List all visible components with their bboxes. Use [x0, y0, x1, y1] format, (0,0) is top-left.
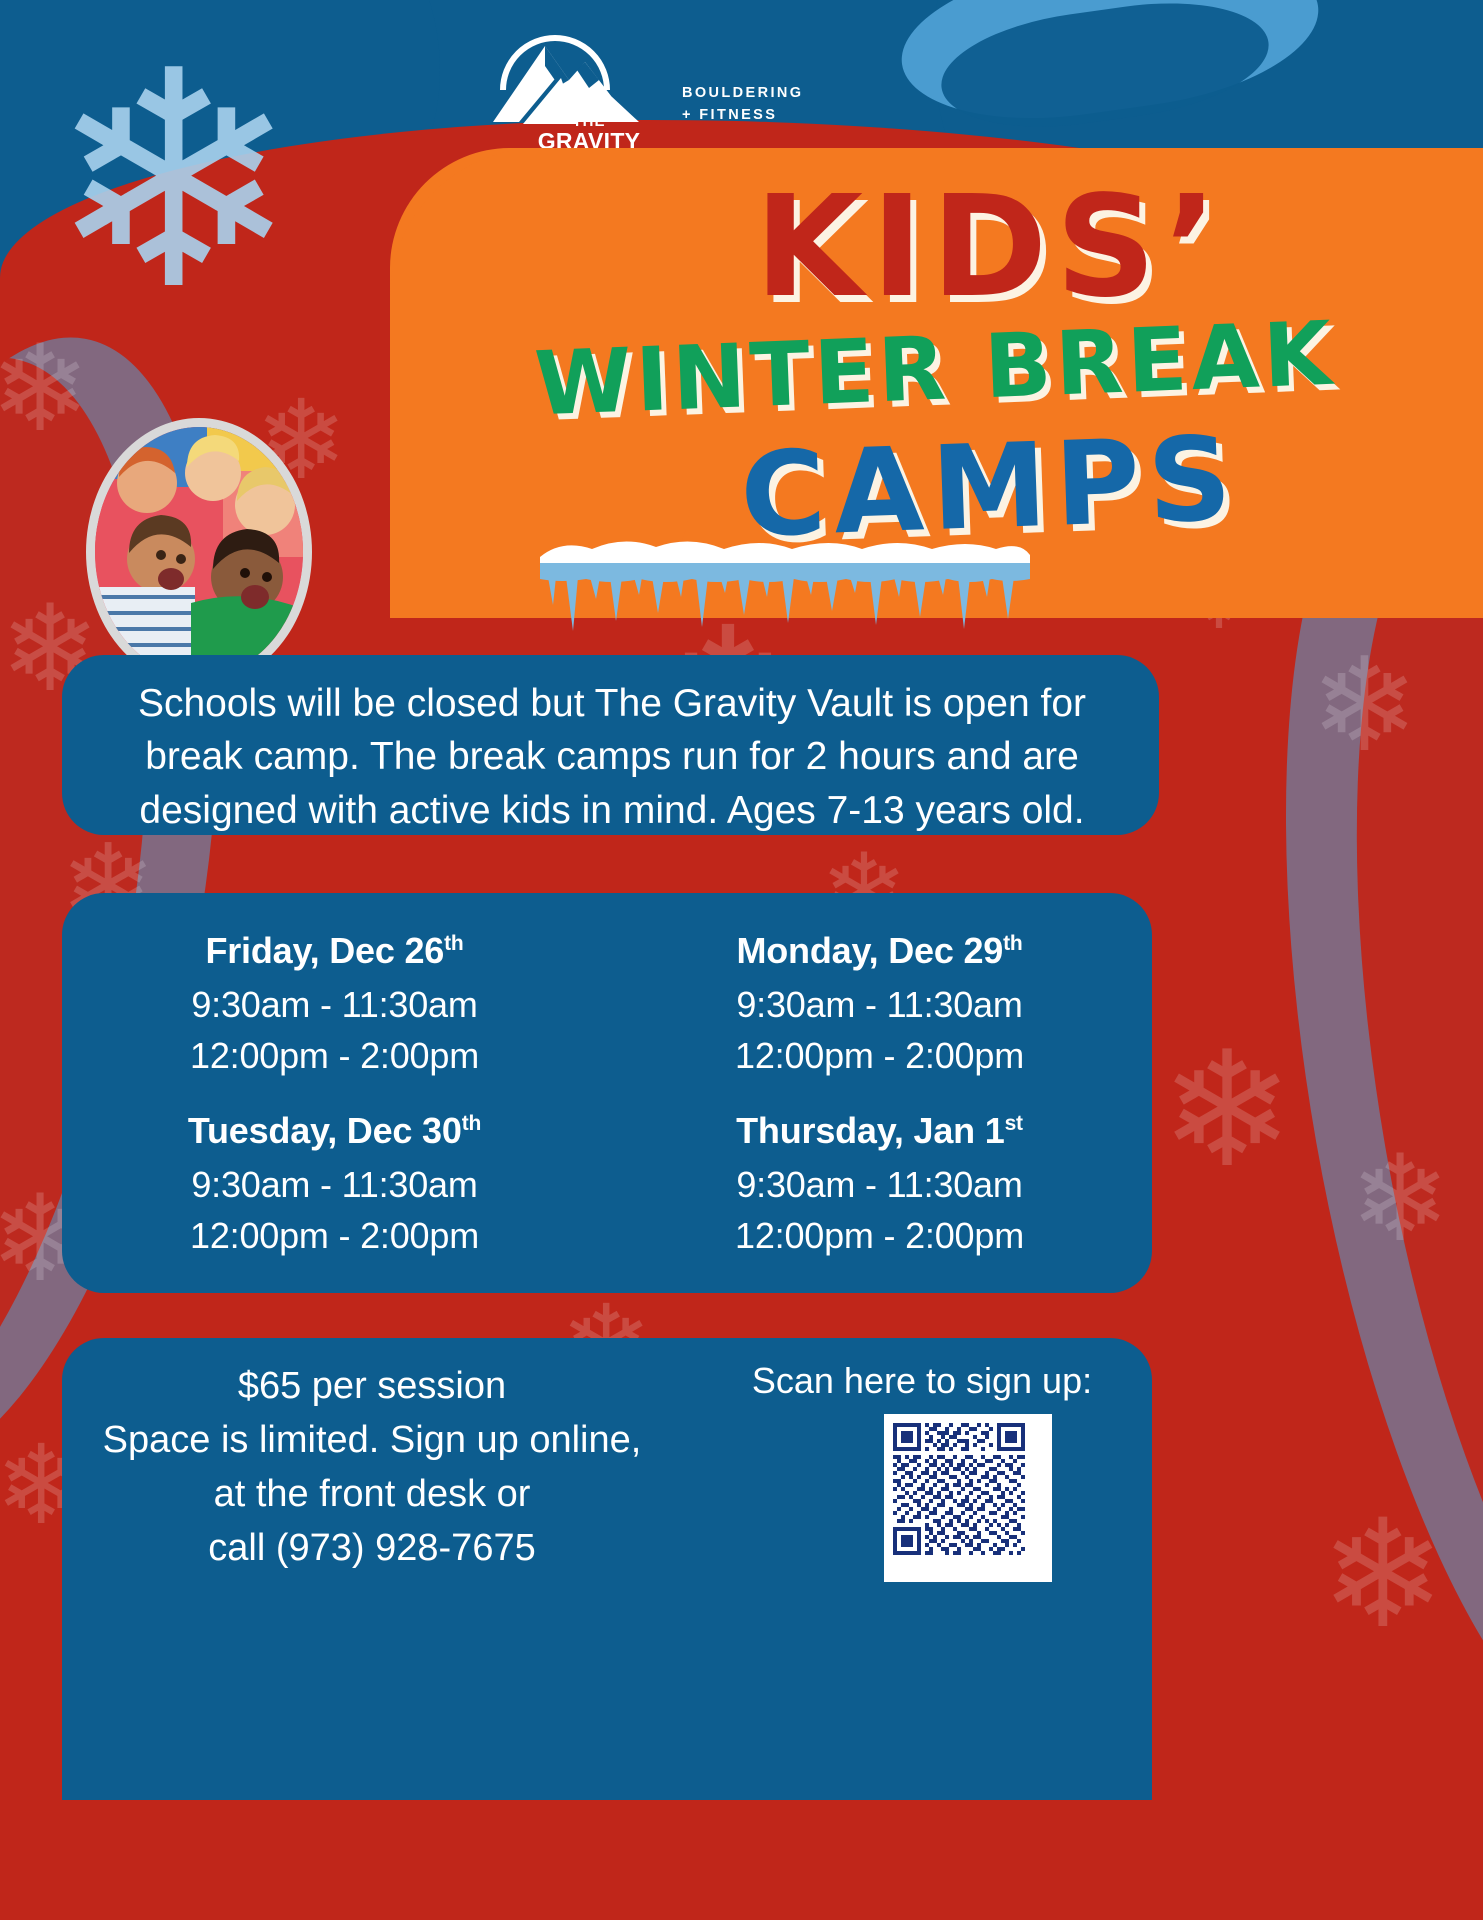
- brand-tagline: BOULDERING + FITNESS: [682, 82, 803, 127]
- schedule-time: 9:30am - 11:30am: [62, 1159, 607, 1210]
- schedule-time: 9:30am - 11:30am: [607, 1159, 1152, 1210]
- schedule-time: 12:00pm - 2:00pm: [607, 1030, 1152, 1081]
- phone-line: call (973) 928-7675: [82, 1522, 662, 1576]
- brand-tagline-line1: BOULDERING: [682, 82, 803, 104]
- schedule-date: Friday, Dec 26th: [62, 931, 607, 971]
- schedule-time: 12:00pm - 2:00pm: [607, 1210, 1152, 1261]
- qr-code-icon[interactable]: [893, 1423, 1025, 1555]
- brand-tagline-line2: + FITNESS: [682, 104, 803, 126]
- title-line-kids: KIDS’: [540, 178, 1440, 318]
- schedule-time: 12:00pm - 2:00pm: [62, 1030, 607, 1081]
- schedule-item: Tuesday, Dec 30th 9:30am - 11:30am 12:00…: [62, 1099, 607, 1279]
- schedule-time: 9:30am - 11:30am: [607, 979, 1152, 1030]
- icicle-decoration: [540, 535, 1030, 655]
- schedule-item: Monday, Dec 29th 9:30am - 11:30am 12:00p…: [607, 919, 1152, 1099]
- schedule-time: 12:00pm - 2:00pm: [62, 1210, 607, 1261]
- schedule-item: Thursday, Jan 1st 9:30am - 11:30am 12:00…: [607, 1099, 1152, 1279]
- brand-the: THE: [499, 114, 679, 129]
- signup-line2: at the front desk or: [82, 1468, 662, 1522]
- price-text: $65 per session: [82, 1360, 662, 1414]
- schedule-panel: Friday, Dec 26th 9:30am - 11:30am 12:00p…: [62, 893, 1152, 1293]
- schedule-date-text: Monday, Dec 29: [736, 930, 1003, 971]
- description-text: Schools will be closed but The Gravity V…: [102, 677, 1122, 837]
- title-line-winter-break: WINTER BREAK: [399, 304, 1472, 433]
- schedule-time: 9:30am - 11:30am: [62, 979, 607, 1030]
- pricing-info: $65 per session Space is limited. Sign u…: [82, 1360, 662, 1576]
- icicle-icon: [540, 535, 1030, 655]
- signup-line1: Space is limited. Sign up online,: [82, 1414, 662, 1468]
- schedule-date: Thursday, Jan 1st: [607, 1111, 1152, 1151]
- kids-photo-image: [95, 427, 303, 677]
- schedule-date-text: Friday, Dec 26: [205, 930, 444, 971]
- schedule-date-suffix: th: [444, 932, 463, 955]
- background-red-footer: [0, 1800, 1483, 1920]
- qr-code[interactable]: [884, 1414, 1052, 1582]
- poster-root: ❄ ❄ ❄ ❄ ❄ ❄ ❄ ❄ ❄ ❄ ❄ ❄ ❄ ❄ ❄ ❄ ❄ ❄ BOUL…: [0, 0, 1483, 1920]
- schedule-item: Friday, Dec 26th 9:30am - 11:30am 12:00p…: [62, 919, 607, 1099]
- schedule-date-suffix: st: [1005, 1112, 1023, 1135]
- schedule-date-text: Tuesday, Dec 30: [188, 1110, 462, 1151]
- brand-logo: BOULDERING + FITNESS THE GRAVITY VAULT® …: [489, 26, 779, 151]
- schedule-date-text: Thursday, Jan 1: [736, 1110, 1004, 1151]
- kids-photo: [86, 418, 312, 686]
- schedule-date-suffix: th: [1003, 932, 1022, 955]
- schedule-date: Monday, Dec 29th: [607, 931, 1152, 971]
- scan-label: Scan here to sign up:: [702, 1360, 1142, 1402]
- description-panel: Schools will be closed but The Gravity V…: [62, 655, 1159, 835]
- schedule-date: Tuesday, Dec 30th: [62, 1111, 607, 1151]
- schedule-date-suffix: th: [462, 1112, 481, 1135]
- schedule-grid: Friday, Dec 26th 9:30am - 11:30am 12:00p…: [62, 919, 1152, 1279]
- mountain-icon: [489, 26, 689, 126]
